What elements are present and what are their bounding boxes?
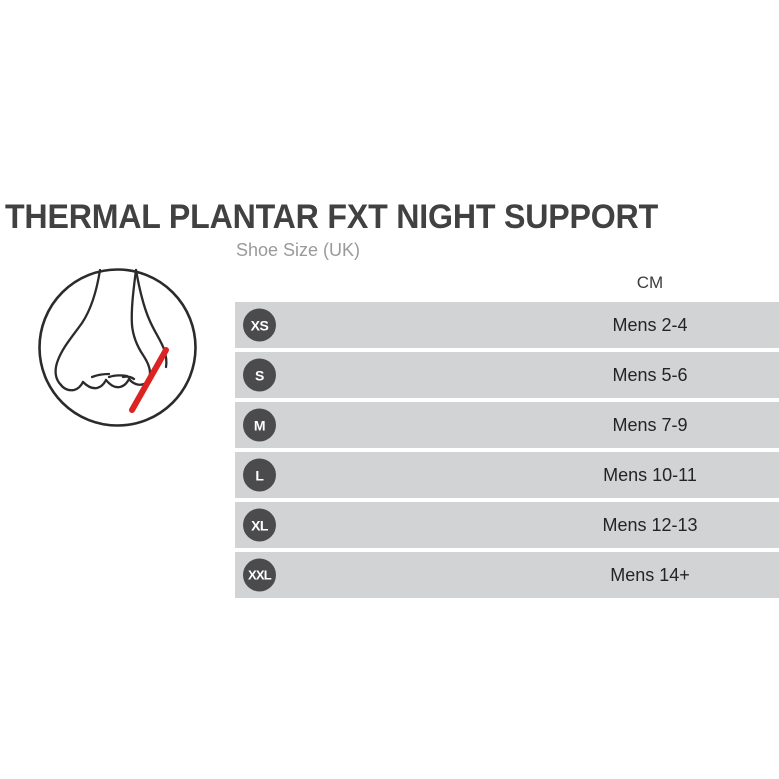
foot-plantar-fascia-icon — [37, 267, 198, 428]
size-badge: XXL — [243, 559, 276, 592]
size-badge: L — [243, 459, 276, 492]
table-row: S Mens 5-6 Womens 5-6.5 — [235, 352, 779, 398]
cell-cm: Mens 12-13 — [590, 502, 710, 548]
size-badge: S — [243, 359, 276, 392]
page-title: THERMAL PLANTAR FXT NIGHT SUPPORT — [5, 197, 723, 237]
table-row: L Mens 10-11 Womens 8.5-10 — [235, 452, 779, 498]
size-badge: M — [243, 409, 276, 442]
cell-cm: Mens 10-11 — [590, 452, 710, 498]
cell-cm: Mens 14+ — [590, 552, 710, 598]
table-row: XL Mens 12-13 Womens 10-12 — [235, 502, 779, 548]
column-headers: CM INS — [235, 271, 779, 295]
table-row: XS Mens 2-4 Womens 3-4 — [235, 302, 779, 348]
table-row: XXL Mens 14+ Womens 13+ — [235, 552, 779, 598]
shoe-size-caption: Shoe Size (UK) — [236, 239, 360, 261]
cell-cm: Mens 2-4 — [590, 302, 710, 348]
size-chart-rows: XS Mens 2-4 Womens 3-4 S Mens 5-6 Womens… — [235, 302, 779, 598]
size-badge: XL — [243, 509, 276, 542]
cell-cm: Mens 5-6 — [590, 352, 710, 398]
column-header-cm: CM — [590, 271, 710, 295]
table-row: M Mens 7-9 Womens 7-8 — [235, 402, 779, 448]
size-badge: XS — [243, 309, 276, 342]
cell-cm: Mens 7-9 — [590, 402, 710, 448]
size-chart-page: THERMAL PLANTAR FXT NIGHT SUPPORT Shoe S… — [0, 0, 779, 779]
